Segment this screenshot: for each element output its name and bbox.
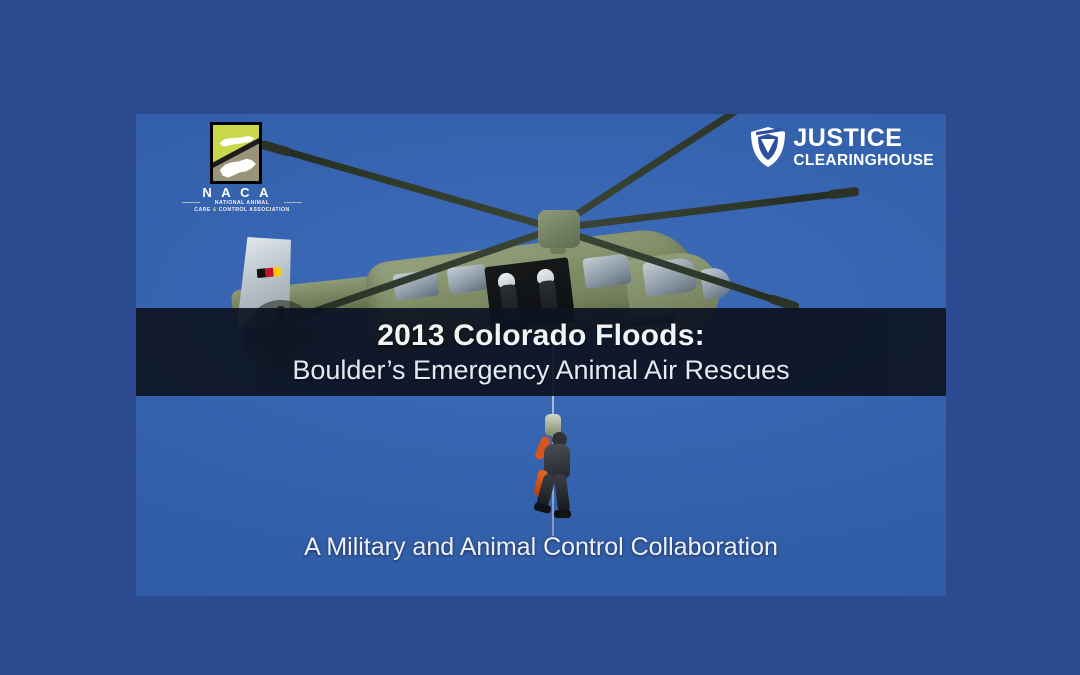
naca-logo-mark [210, 122, 262, 184]
justice-clearinghouse-logo[interactable]: JUSTICE CLEARINGHOUSE [750, 126, 934, 169]
rescuer-boot [554, 510, 571, 518]
cockpit-window [582, 253, 631, 288]
slide-tagline: A Military and Animal Control Collaborat… [136, 533, 946, 562]
hoisted-rescuer [532, 432, 580, 518]
justice-clearinghouse-wordmark: JUSTICE CLEARINGHOUSE [793, 126, 934, 169]
rescuer-boot [533, 502, 551, 514]
title-banner: 2013 Colorado Floods: Boulder’s Emergenc… [136, 308, 946, 396]
rescuer-leg [554, 473, 571, 512]
naca-logo[interactable]: N A C A NATIONAL ANIMAL CARE & CONTROL A… [176, 122, 308, 214]
naca-wordmark: N A C A [202, 185, 272, 200]
slide-title: 2013 Colorado Floods: [377, 320, 705, 352]
shield-icon [750, 126, 786, 168]
cabin-window [447, 264, 488, 294]
naca-tagline-line1: NATIONAL ANIMAL [176, 200, 308, 206]
jc-line-justice: JUSTICE [793, 126, 934, 151]
naca-tagline-line2: CARE & CONTROL ASSOCIATION [176, 207, 308, 213]
jc-line-clearinghouse: CLEARINGHOUSE [793, 153, 934, 169]
slide-frame: N A C A NATIONAL ANIMAL CARE & CONTROL A… [0, 0, 1080, 675]
naca-mark-artwork [213, 125, 259, 181]
slide-subtitle: Boulder’s Emergency Animal Air Rescues [292, 356, 789, 384]
naca-tagline-control: CONTROL ASSOCIATION [217, 207, 290, 213]
naca-tagline-care: CARE [194, 207, 212, 213]
rotor-hub [538, 210, 580, 248]
rotor-blade [266, 142, 556, 231]
